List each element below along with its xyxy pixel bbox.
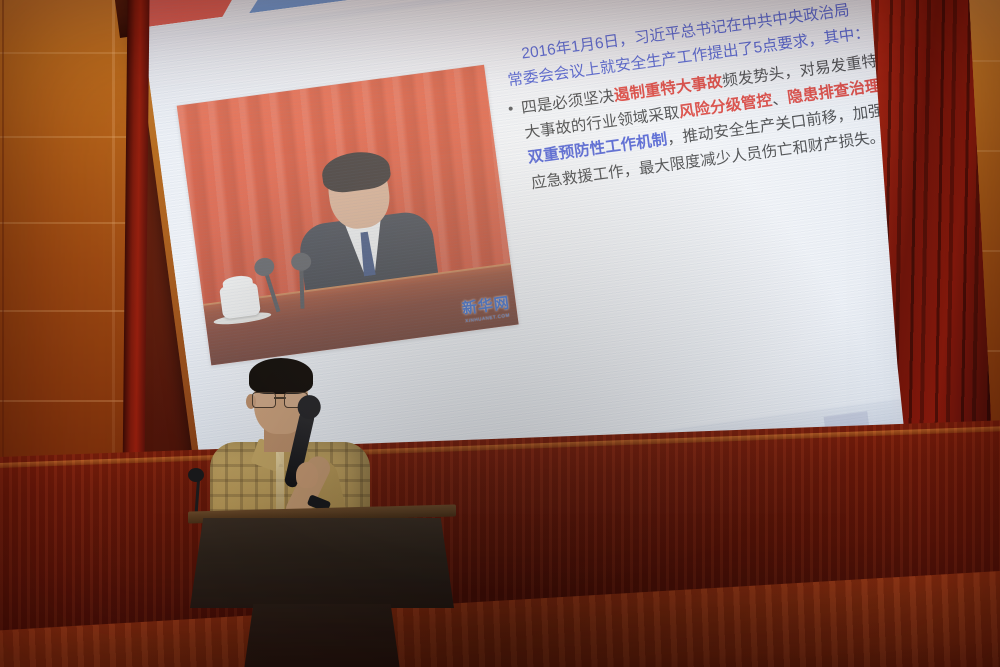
lectern-front-panel [190,518,454,608]
slide-embedded-photo: 新华网 XINHUANET.COM [177,65,519,366]
photo-canvas: 1.双重预防的提出 [0,0,1000,667]
lectern [188,508,456,667]
bullet-run-5: 隐患排查治理 [786,78,881,107]
lectern-base [244,604,400,667]
bullet-run-3: 风险分级管控 [678,92,773,121]
speaker-hand [296,462,318,488]
speaker-hair [249,358,313,394]
gooseneck-microphone-icon [188,468,204,482]
bullet-run-0: 四是必须坚决 [520,88,615,117]
photo-teacup [219,283,261,320]
